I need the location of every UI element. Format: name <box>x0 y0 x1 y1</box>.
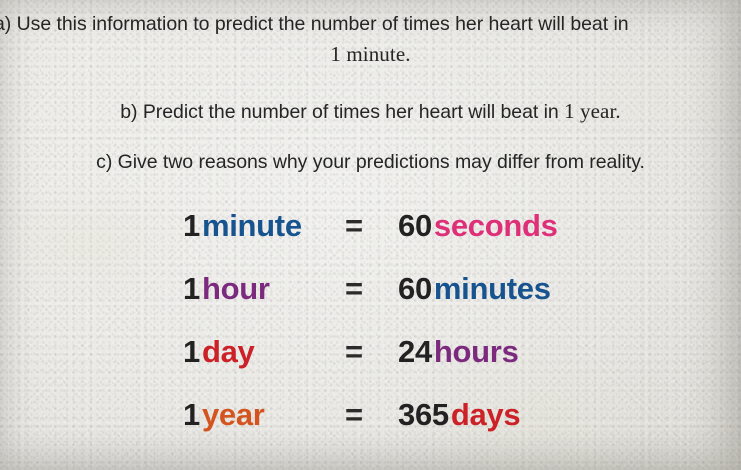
left-number: 1 <box>183 208 200 243</box>
right-unit-hours: hours <box>434 334 519 369</box>
question-a-line-1: a) Use this information to predict the n… <box>0 12 629 37</box>
question-b-number: 1 <box>564 99 575 123</box>
left-unit-minute: minute <box>202 208 302 243</box>
time-conversion-table: 1minute = 60seconds 1hour = 60minutes 1d… <box>183 208 558 460</box>
question-b: b) Predict the number of times her heart… <box>0 98 741 125</box>
conversion-row-year: 1year = 365days <box>183 397 558 460</box>
conversion-right-hours: 24hours <box>398 334 519 370</box>
right-number: 365 <box>398 397 449 432</box>
equals-sign: = <box>345 271 398 307</box>
question-c: c) Give two reasons why your predictions… <box>0 150 741 175</box>
question-b-text-before: b) Predict the number of times her heart… <box>120 101 564 123</box>
equals-sign: = <box>345 334 398 370</box>
question-a-line-2: 1 minute. <box>0 41 741 68</box>
conversion-row-day: 1day = 24hours <box>183 334 558 397</box>
left-unit-year: year <box>202 397 265 432</box>
right-number: 60 <box>398 208 432 243</box>
conversion-left-day: 1day <box>183 334 345 370</box>
page-content: a) Use this information to predict the n… <box>0 0 741 470</box>
worksheet-page: a) Use this information to predict the n… <box>0 0 741 470</box>
question-a-number: 1 <box>330 42 341 66</box>
right-unit-minutes: minutes <box>434 271 551 306</box>
question-a-unit: minute. <box>341 42 411 66</box>
conversion-left-hour: 1hour <box>183 271 345 307</box>
left-unit-hour: hour <box>202 271 270 306</box>
conversion-right-seconds: 60seconds <box>398 208 558 244</box>
left-number: 1 <box>183 334 200 369</box>
conversion-right-days: 365days <box>398 397 520 433</box>
conversion-left-minute: 1minute <box>183 208 345 244</box>
equals-sign: = <box>345 208 398 244</box>
right-unit-seconds: seconds <box>434 208 558 243</box>
right-number: 60 <box>398 271 432 306</box>
left-unit-day: day <box>202 334 255 369</box>
right-unit-days: days <box>451 397 520 432</box>
question-b-text-after: year. <box>575 99 621 123</box>
equals-sign: = <box>345 397 398 433</box>
conversion-row-minute: 1minute = 60seconds <box>183 208 558 271</box>
conversion-right-minutes: 60minutes <box>398 271 551 307</box>
conversion-row-hour: 1hour = 60minutes <box>183 271 558 334</box>
conversion-left-year: 1year <box>183 397 345 433</box>
left-number: 1 <box>183 271 200 306</box>
right-number: 24 <box>398 334 432 369</box>
left-number: 1 <box>183 397 200 432</box>
